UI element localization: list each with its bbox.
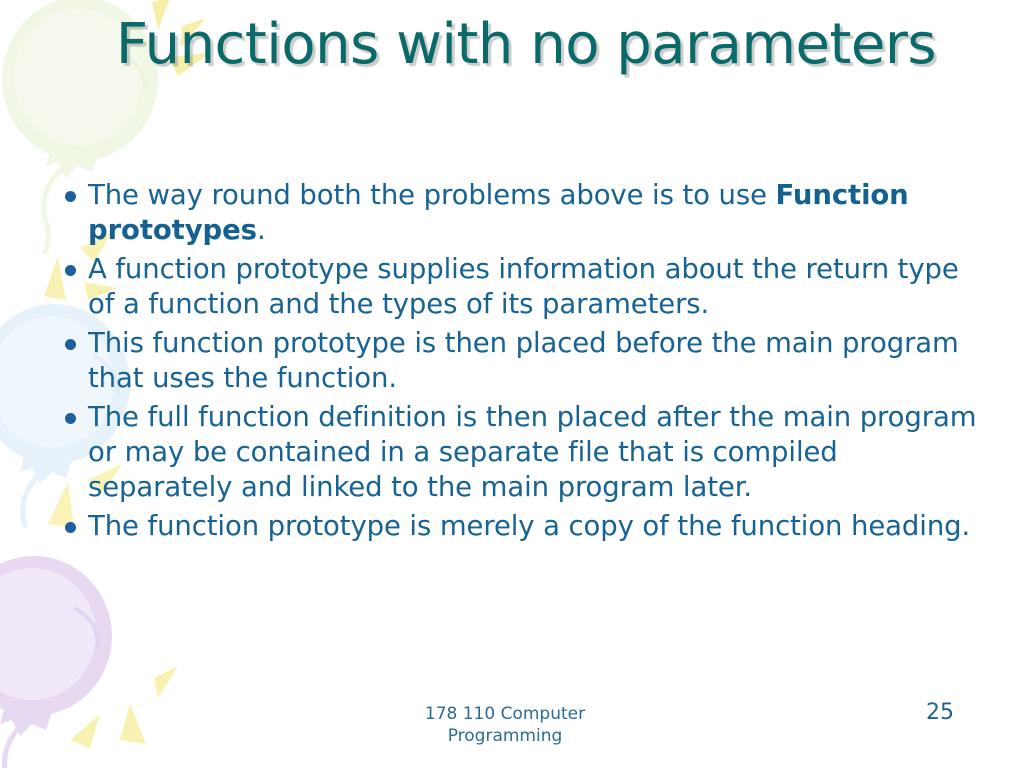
bullet-text: The function prototype is merely a copy … [88,509,982,544]
list-item: A function prototype supplies informatio… [52,252,982,322]
list-item: This function prototype is then placed b… [52,326,982,396]
bullet-dot-icon [52,252,88,276]
bullet-dot-icon [52,400,88,424]
bullet-list: The way round both the problems above is… [52,178,982,548]
list-item: The way round both the problems above is… [52,178,982,248]
title-block: Functions with no parameters [96,14,956,75]
footer-line-2: Programming [355,725,655,747]
footer: 178 110 Computer Programming [355,703,655,747]
bullet-dot-icon [52,509,88,533]
bullet-text: This function prototype is then placed b… [88,326,982,396]
page-title: Functions with no parameters [96,14,956,75]
list-item: The full function definition is then pla… [52,400,982,505]
bullet-dot-icon [52,178,88,202]
balloon-purple-bottom-left-icon [0,556,184,768]
bullet-text: The way round both the problems above is… [88,178,982,248]
bullet-text: The full function definition is then pla… [88,400,982,505]
bullet-text: A function prototype supplies informatio… [88,252,982,322]
presentation-slide: Functions with no parameters The way rou… [0,0,1024,768]
list-item: The function prototype is merely a copy … [52,509,982,544]
footer-line-1: 178 110 Computer [355,703,655,725]
slide-number: 25 [900,700,980,726]
sparkle-rays-bottom-icon [46,640,216,768]
bullet-dot-icon [52,326,88,350]
